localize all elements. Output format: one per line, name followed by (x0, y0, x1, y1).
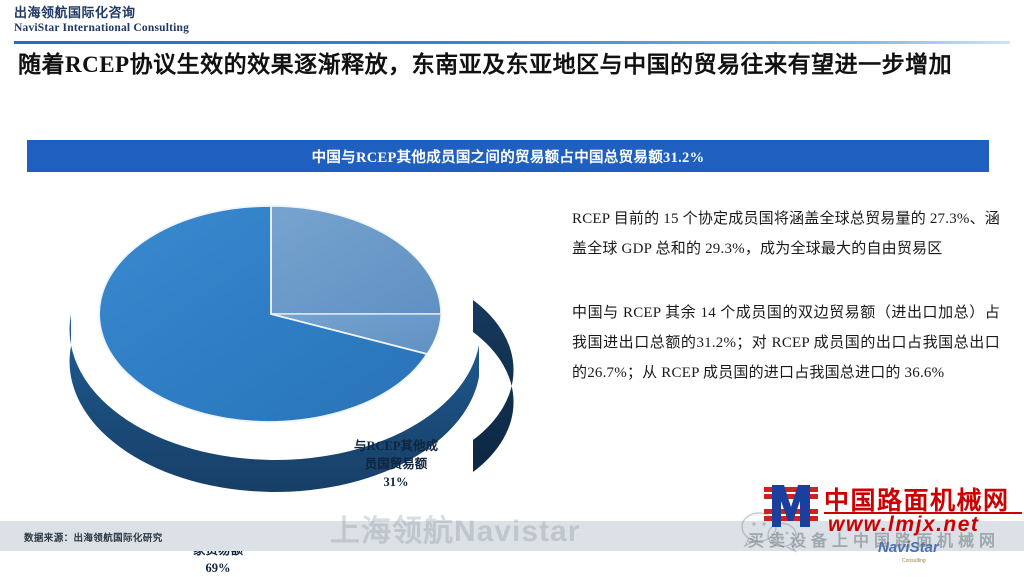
pie-chart: 与RCEP其他成 员国贸易额 31% 与全球其他国 家贸易额 69% (55, 196, 555, 496)
lmjx-name-cn: 中国路面机械网 (824, 481, 1010, 517)
page-title: 随着RCEP协议生效的效果逐渐释放，东南亚及东亚地区与中国的贸易往来有望进一步增… (18, 48, 1003, 81)
body-text-column: RCEP 目前的 15 个协定成员国将涵盖全球总贸易量的 27.3%、涵盖全球 … (572, 204, 1000, 388)
chart-title-banner-text: 中国与RCEP其他成员国之间的贸易额占中国总贸易额31.2% (312, 146, 705, 167)
brand-logo: 出海领航国际化咨询 NaviStar International Consult… (14, 6, 189, 35)
data-source-note: 数据来源：出海领航国际化研究 (24, 530, 163, 544)
navistar-logo-sub: Consulting (902, 558, 926, 564)
pie-depth-minor (473, 300, 514, 472)
lmjx-divider (824, 512, 1022, 514)
header-divider (14, 41, 1010, 44)
pie-label-global-value: 69% (133, 559, 303, 577)
brand-name-en: NaviStar International Consulting (14, 22, 189, 35)
body-paragraph-2: 中国与 RCEP 其余 14 个成员国的双边贸易额（进出口加总）占我国进出口总额… (572, 298, 1000, 388)
pie-slice-rcep (271, 206, 441, 314)
body-paragraph-1: RCEP 目前的 15 个协定成员国将涵盖全球总贸易量的 27.3%、涵盖全球 … (572, 204, 1000, 264)
pie-chart-svg (55, 196, 555, 496)
brand-name-cn: 出海领航国际化咨询 (14, 6, 189, 21)
chart-title-banner: 中国与RCEP其他成员国之间的贸易额占中国总贸易额31.2% (27, 140, 989, 172)
